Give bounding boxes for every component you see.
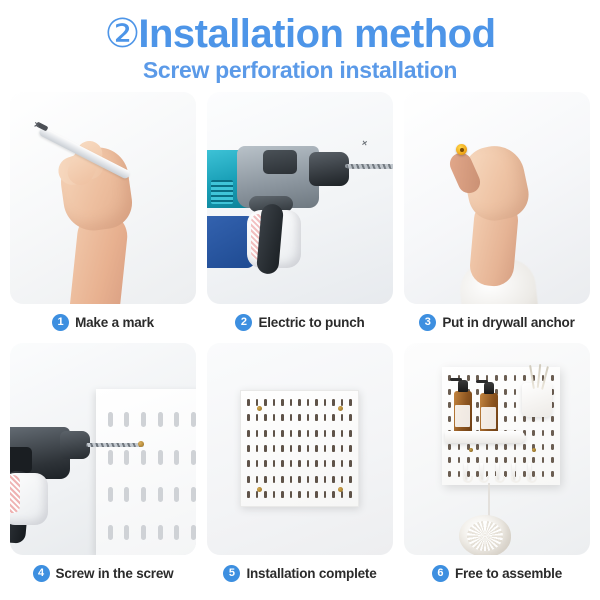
- step-image-electric-to-punch: ×: [207, 92, 393, 304]
- step-card-6[interactable]: 6 Free to assemble: [404, 343, 590, 591]
- step-caption-text-5: Installation complete: [246, 566, 376, 581]
- drill-bit-flutes: [347, 164, 393, 169]
- brass-screw-icon: [257, 406, 262, 411]
- step-card-4[interactable]: 4 Screw in the screw: [10, 343, 196, 591]
- brass-screw-icon: [469, 448, 473, 452]
- step-caption-2: 2 Electric to punch: [207, 308, 393, 336]
- page-subtitle: Screw perforation installation: [0, 59, 600, 82]
- step-card-3[interactable]: 3 Put in drywall anchor: [404, 92, 590, 340]
- shelf: [445, 431, 525, 443]
- step-caption-text-2: Electric to punch: [258, 315, 364, 330]
- step-caption-text-6: Free to assemble: [455, 566, 562, 581]
- step-marker-glyph: ②: [104, 12, 138, 56]
- brass-screw-icon: [338, 487, 343, 492]
- step-badge-5: 5: [223, 565, 240, 582]
- brass-screw-icon: [338, 406, 343, 411]
- glove-grip-pattern: [10, 475, 20, 513]
- step-caption-1: 1 Make a mark: [10, 308, 196, 336]
- step-image-put-in-drywall-anchor: [404, 92, 590, 304]
- step-image-free-to-assemble: [404, 343, 590, 555]
- step-caption-5: 5 Installation complete: [207, 559, 393, 587]
- drill-body-accent: [10, 447, 32, 473]
- step-card-2[interactable]: × 2 Electric to punch: [207, 92, 393, 340]
- step-card-1[interactable]: × 1 Make a mark: [10, 92, 196, 340]
- step-card-5[interactable]: 5 Installation complete: [207, 343, 393, 591]
- drywall-anchor-icon: [456, 144, 467, 155]
- cup-holder: [522, 383, 552, 417]
- page-header: ②Installation method Screw perforation i…: [0, 0, 600, 82]
- soap-bottle-label: [481, 407, 496, 429]
- step-badge-2: 2: [235, 314, 252, 331]
- brass-screw-icon: [532, 448, 536, 452]
- hook-icon: [528, 463, 531, 480]
- brass-screw-icon: [257, 487, 262, 492]
- pegboard-slots: [102, 401, 196, 551]
- drill-vents: [211, 180, 233, 204]
- step-caption-4: 4 Screw in the screw: [10, 559, 196, 587]
- drill-body-accent: [263, 150, 297, 174]
- brass-screw-icon: [138, 441, 144, 447]
- page-title: ②Installation method: [0, 14, 600, 54]
- step-badge-6: 6: [432, 565, 449, 582]
- hook-icon: [512, 463, 515, 480]
- soap-bottle-label: [455, 405, 470, 427]
- step-caption-text-1: Make a mark: [75, 315, 154, 330]
- step-badge-1: 1: [52, 314, 69, 331]
- loofah-icon: [459, 515, 511, 555]
- step-caption-3: 3 Put in drywall anchor: [404, 308, 590, 336]
- page-title-text: Installation method: [138, 12, 495, 56]
- steps-grid: × 1 Make a mark × 2 Electric to punch: [10, 92, 590, 591]
- step-image-make-a-mark: ×: [10, 92, 196, 304]
- drill-bit: [86, 443, 144, 447]
- step-badge-4: 4: [33, 565, 50, 582]
- hook-icon: [496, 463, 499, 480]
- step-caption-text-3: Put in drywall anchor: [442, 315, 574, 330]
- pegboard-slots: [244, 395, 355, 502]
- step-image-installation-complete: [207, 343, 393, 555]
- step-caption-6: 6 Free to assemble: [404, 559, 590, 587]
- step-image-screw-in-the-screw: [10, 343, 196, 555]
- step-caption-text-4: Screw in the screw: [56, 566, 174, 581]
- step-badge-3: 3: [419, 314, 436, 331]
- hook-icon: [464, 463, 467, 480]
- hook-icon: [480, 463, 483, 480]
- drill-chuck: [309, 152, 349, 186]
